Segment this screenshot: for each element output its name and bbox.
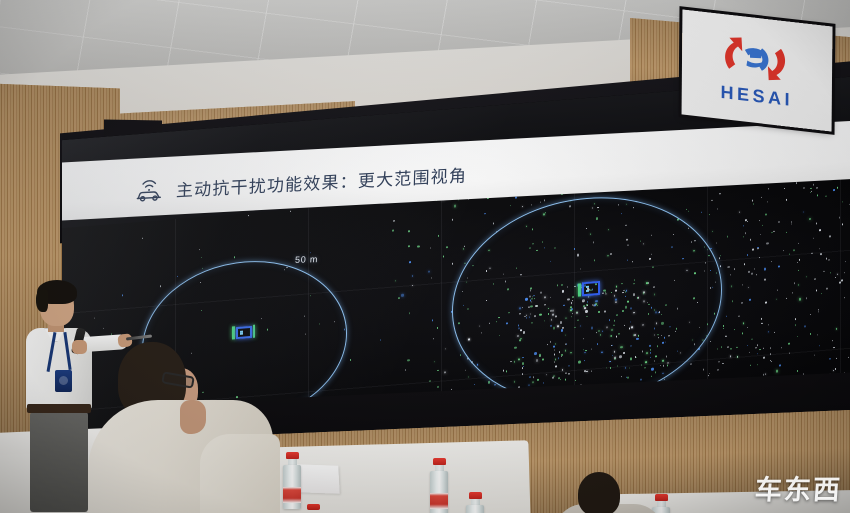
- hesai-brand-sign: HESAI: [682, 10, 833, 132]
- water-bottle: [430, 458, 448, 513]
- range-label-left: 50 m: [295, 254, 319, 265]
- audience-person-right: [560, 470, 680, 513]
- photo-scene: 50 m 50 m 主动抗干扰功能 无主动抗干扰功能: [0, 0, 850, 513]
- watermark-text: 车东西: [754, 468, 844, 507]
- bottle-cap: [307, 504, 320, 510]
- ego-vehicle-icon-right: [578, 281, 600, 297]
- water-bottle: [283, 452, 301, 509]
- water-bottle: [466, 492, 484, 513]
- presenter-badge: [55, 370, 72, 392]
- name-tent-card-2: [296, 464, 339, 494]
- audience-person-foreground: [96, 338, 276, 513]
- car-wifi-icon: [134, 176, 165, 204]
